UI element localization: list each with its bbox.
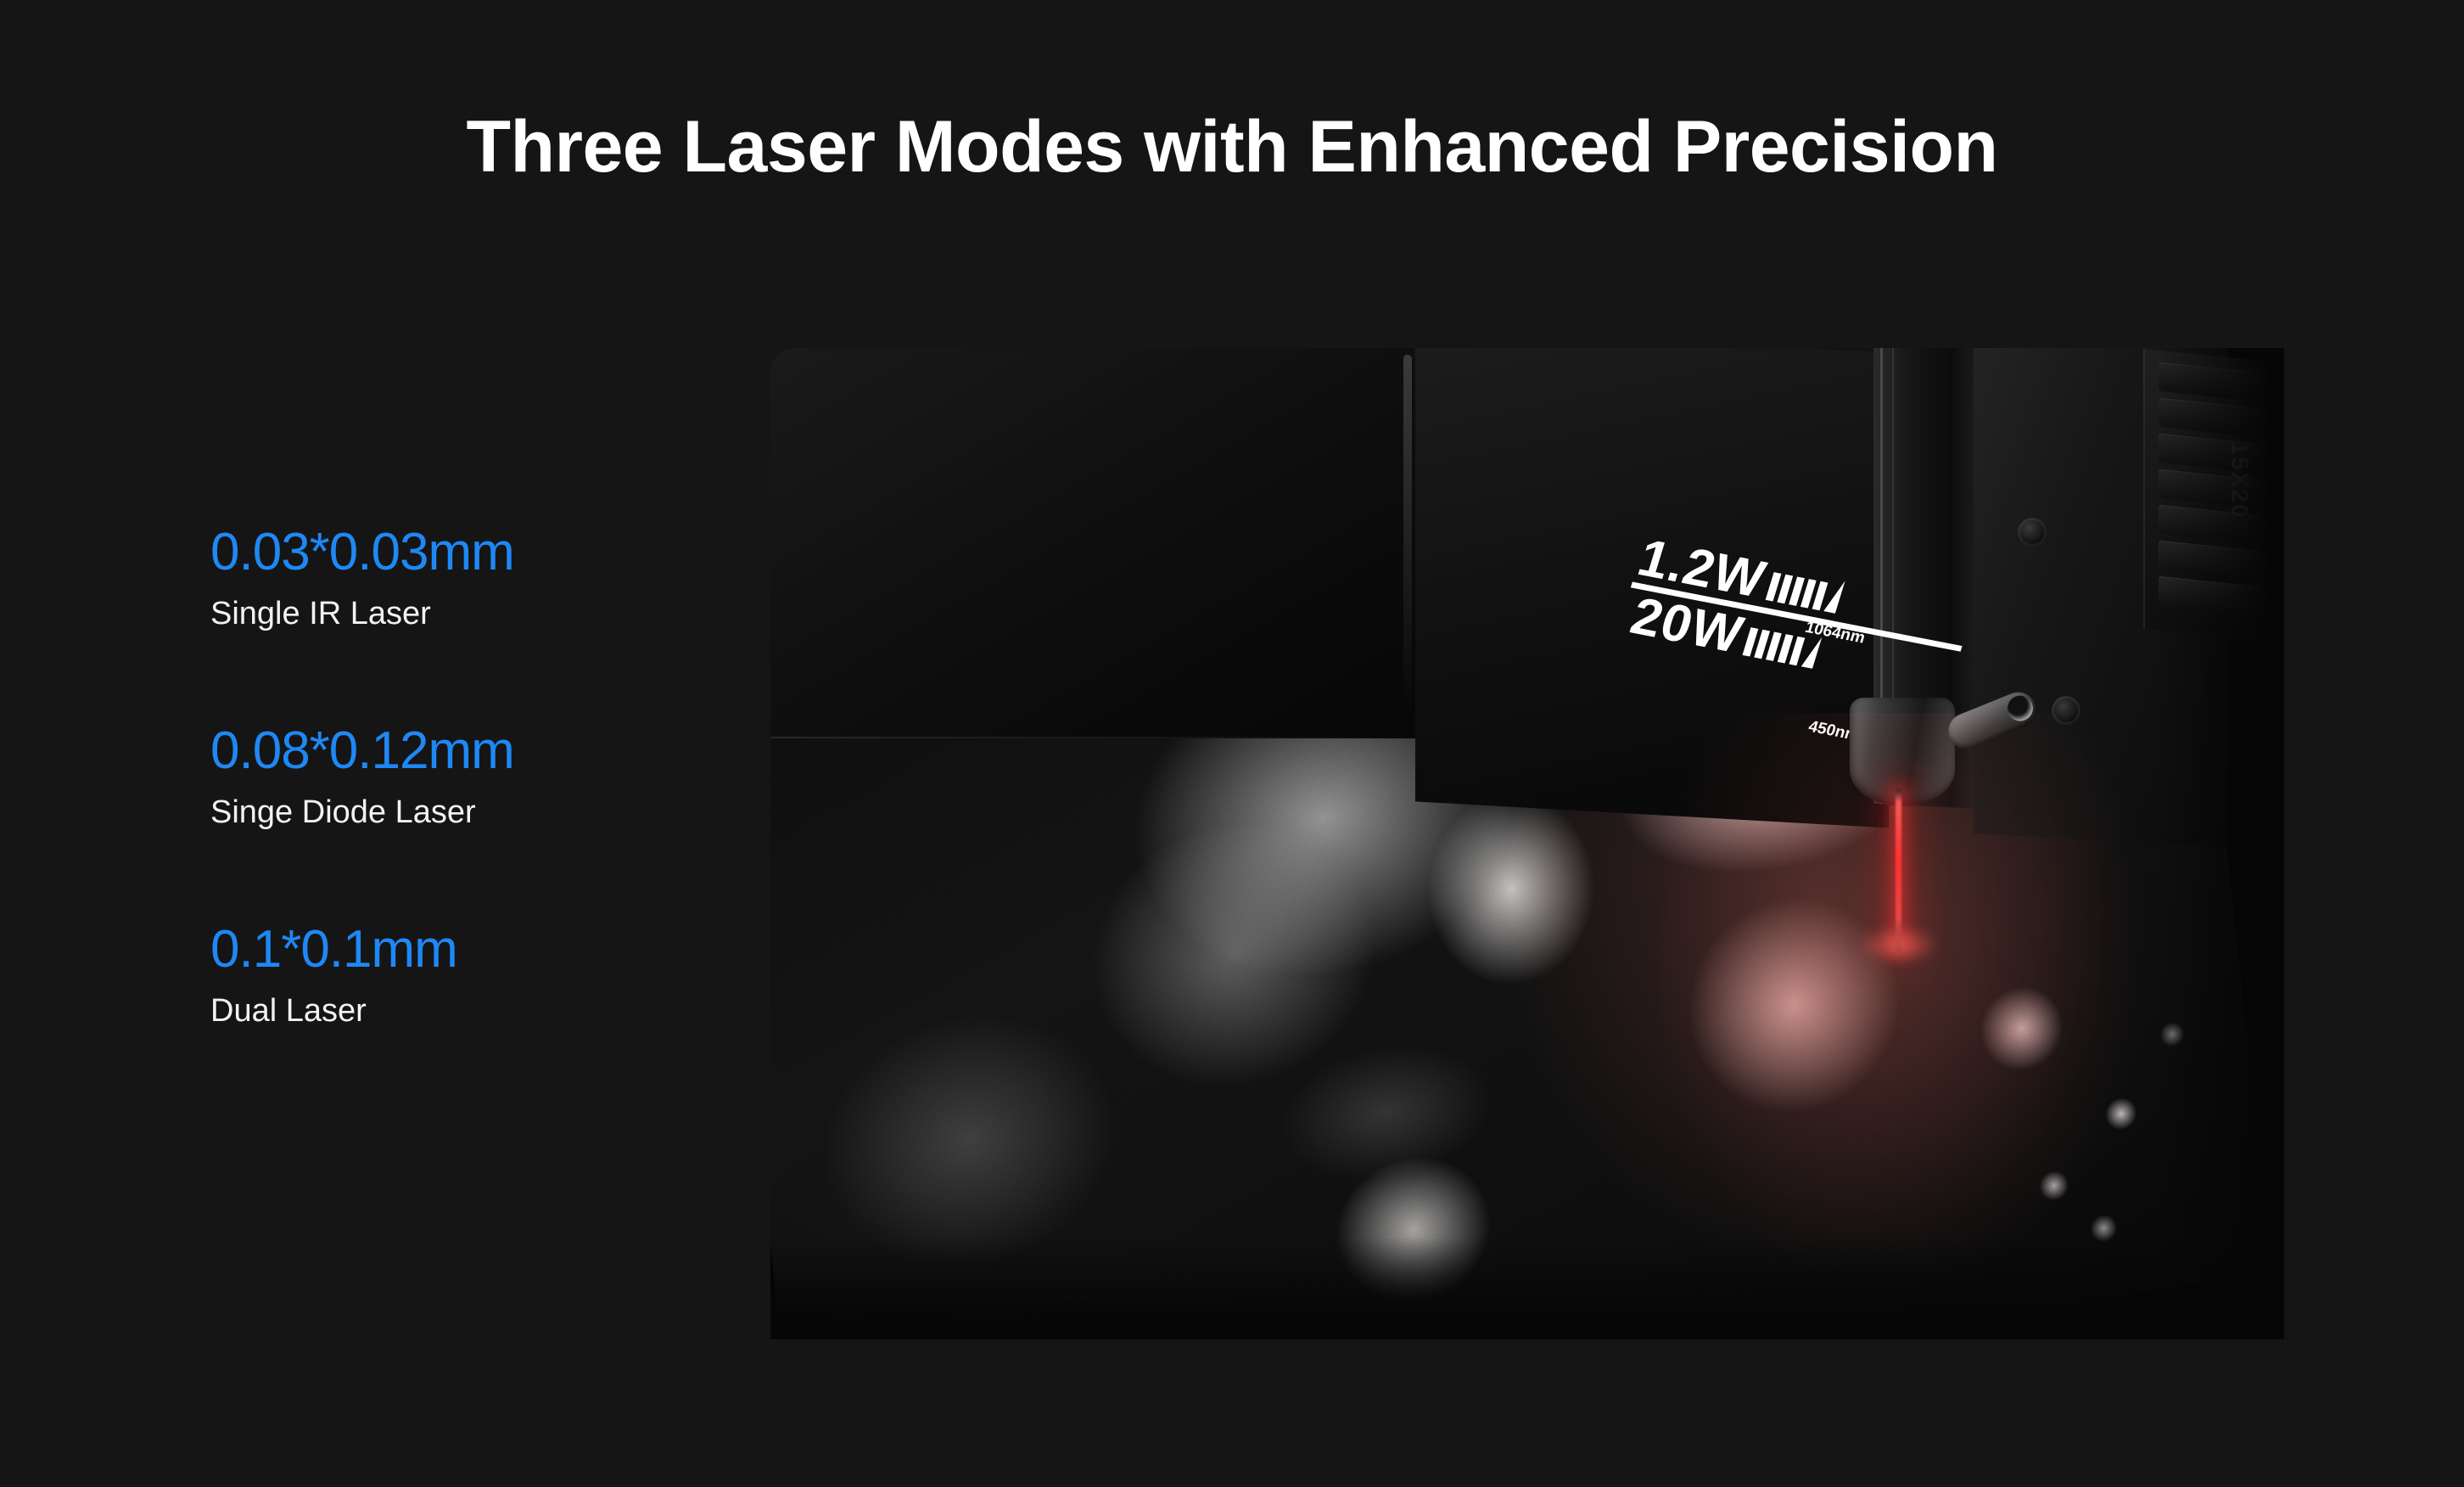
spec-item-single-ir-laser: 0.03*0.03mm Single IR Laser: [210, 526, 736, 630]
spec-item-dual-laser: 0.1*0.1mm Dual Laser: [210, 923, 736, 1027]
spec-label: Singe Diode Laser: [210, 796, 736, 828]
drag-chain: [2143, 349, 2284, 644]
mount-screw-icon: [2052, 696, 2080, 725]
mount-screw-icon: [2018, 518, 2047, 547]
spec-value: 0.03*0.03mm: [210, 526, 736, 579]
product-photo-panel: 15X20 1.2W 20W 1064nm 450nm: [770, 348, 2284, 1339]
machine-body: [770, 348, 1466, 738]
laser-nozzle: [1850, 698, 1955, 806]
drag-chain-label: 15X20: [2226, 442, 2253, 519]
spec-list: 0.03*0.03mm Single IR Laser 0.08*0.12mm …: [210, 526, 736, 1027]
laser-impact-point: [1858, 925, 1940, 964]
spec-value: 0.1*0.1mm: [210, 923, 736, 976]
page-title: Three Laser Modes with Enhanced Precisio…: [0, 109, 2464, 185]
laser-head-housing: [1415, 348, 1890, 828]
spec-value: 0.08*0.12mm: [210, 725, 736, 777]
promo-page: Three Laser Modes with Enhanced Precisio…: [0, 0, 2464, 1487]
spec-label: Dual Laser: [210, 995, 736, 1027]
spec-item-single-diode-laser: 0.08*0.12mm Singe Diode Laser: [210, 725, 736, 828]
spec-label: Single IR Laser: [210, 598, 736, 630]
